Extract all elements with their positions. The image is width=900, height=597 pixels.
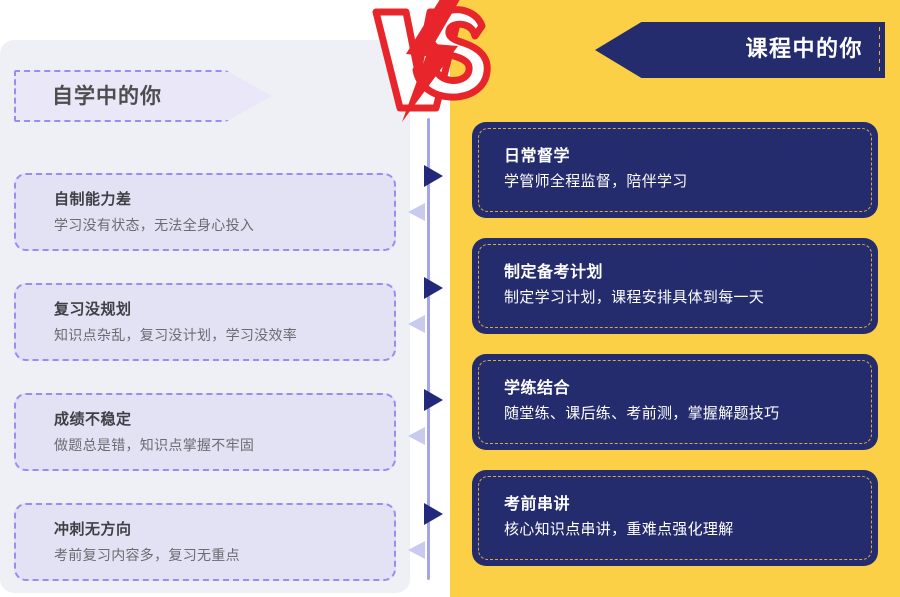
connector-arrow-left-4 [408,541,425,559]
left-card-4-title: 冲刺无方向 [54,518,132,539]
right-card-2-desc: 制定学习计划，课程安排具体到每一天 [504,286,764,307]
left-card-2-title: 复习没规划 [54,298,132,319]
right-card-1-title: 日常督学 [504,142,570,166]
right-banner-dashed-edge [879,27,880,73]
connector-arrow-right-4 [424,503,443,525]
right-card-3-title: 学练结合 [504,374,570,398]
left-card-1-title: 自制能力差 [54,188,132,209]
vs-badge [366,0,494,122]
left-card-1[interactable]: 自制能力差 学习没有状态，无法全身心投入 [14,173,396,251]
left-card-3-desc: 做题总是错，知识点掌握不牢固 [54,435,254,455]
right-card-3-desc: 随堂练、课后练、考前测，掌握解题技巧 [504,402,779,423]
left-card-4[interactable]: 冲刺无方向 考前复习内容多，复习无重点 [14,503,396,581]
left-card-2[interactable]: 复习没规划 知识点杂乱，复习没计划，学习没效率 [14,283,396,361]
left-panel-title: 自学中的你 [52,70,162,122]
left-card-1-desc: 学习没有状态，无法全身心投入 [54,215,254,235]
left-panel-self-study: 自学中的你 自制能力差 学习没有状态，无法全身心投入 复习没规划 知识点杂乱，复… [0,40,410,593]
right-card-4[interactable]: 考前串讲 核心知识点串讲，重难点强化理解 [472,470,878,566]
connector-arrow-left-2 [408,315,425,333]
right-panel-in-course: 课程中的你 日常督学 学管师全程监督，陪伴学习 制定备考计划 制定学习计划，课程… [450,0,900,597]
right-card-2-title: 制定备考计划 [504,258,603,282]
left-card-2-desc: 知识点杂乱，复习没计划，学习没效率 [54,325,297,345]
comparison-infographic: 自学中的你 自制能力差 学习没有状态，无法全身心投入 复习没规划 知识点杂乱，复… [0,0,900,597]
right-card-3[interactable]: 学练结合 随堂练、课后练、考前测，掌握解题技巧 [472,354,878,450]
connector-arrow-right-3 [424,389,443,411]
right-card-4-desc: 核心知识点串讲，重难点强化理解 [504,518,734,539]
left-card-3[interactable]: 成绩不稳定 做题总是错，知识点掌握不牢固 [14,393,396,471]
right-card-1[interactable]: 日常督学 学管师全程监督，陪伴学习 [472,122,878,218]
right-card-1-desc: 学管师全程监督，陪伴学习 [504,170,688,191]
right-panel-title: 课程中的你 [595,22,863,78]
left-panel-header-banner: 自学中的你 [14,70,272,122]
left-card-4-desc: 考前复习内容多，复习无重点 [54,545,240,565]
connector-arrow-right-1 [424,165,443,187]
right-panel-header-banner: 课程中的你 [595,22,885,78]
connector-arrow-left-3 [408,427,425,445]
vs-badge-svg [366,0,494,122]
right-card-4-title: 考前串讲 [504,490,570,514]
left-card-3-title: 成绩不稳定 [54,408,132,429]
connector-arrow-right-2 [424,277,443,299]
right-card-2[interactable]: 制定备考计划 制定学习计划，课程安排具体到每一天 [472,238,878,334]
connector-arrow-left-1 [408,203,425,221]
